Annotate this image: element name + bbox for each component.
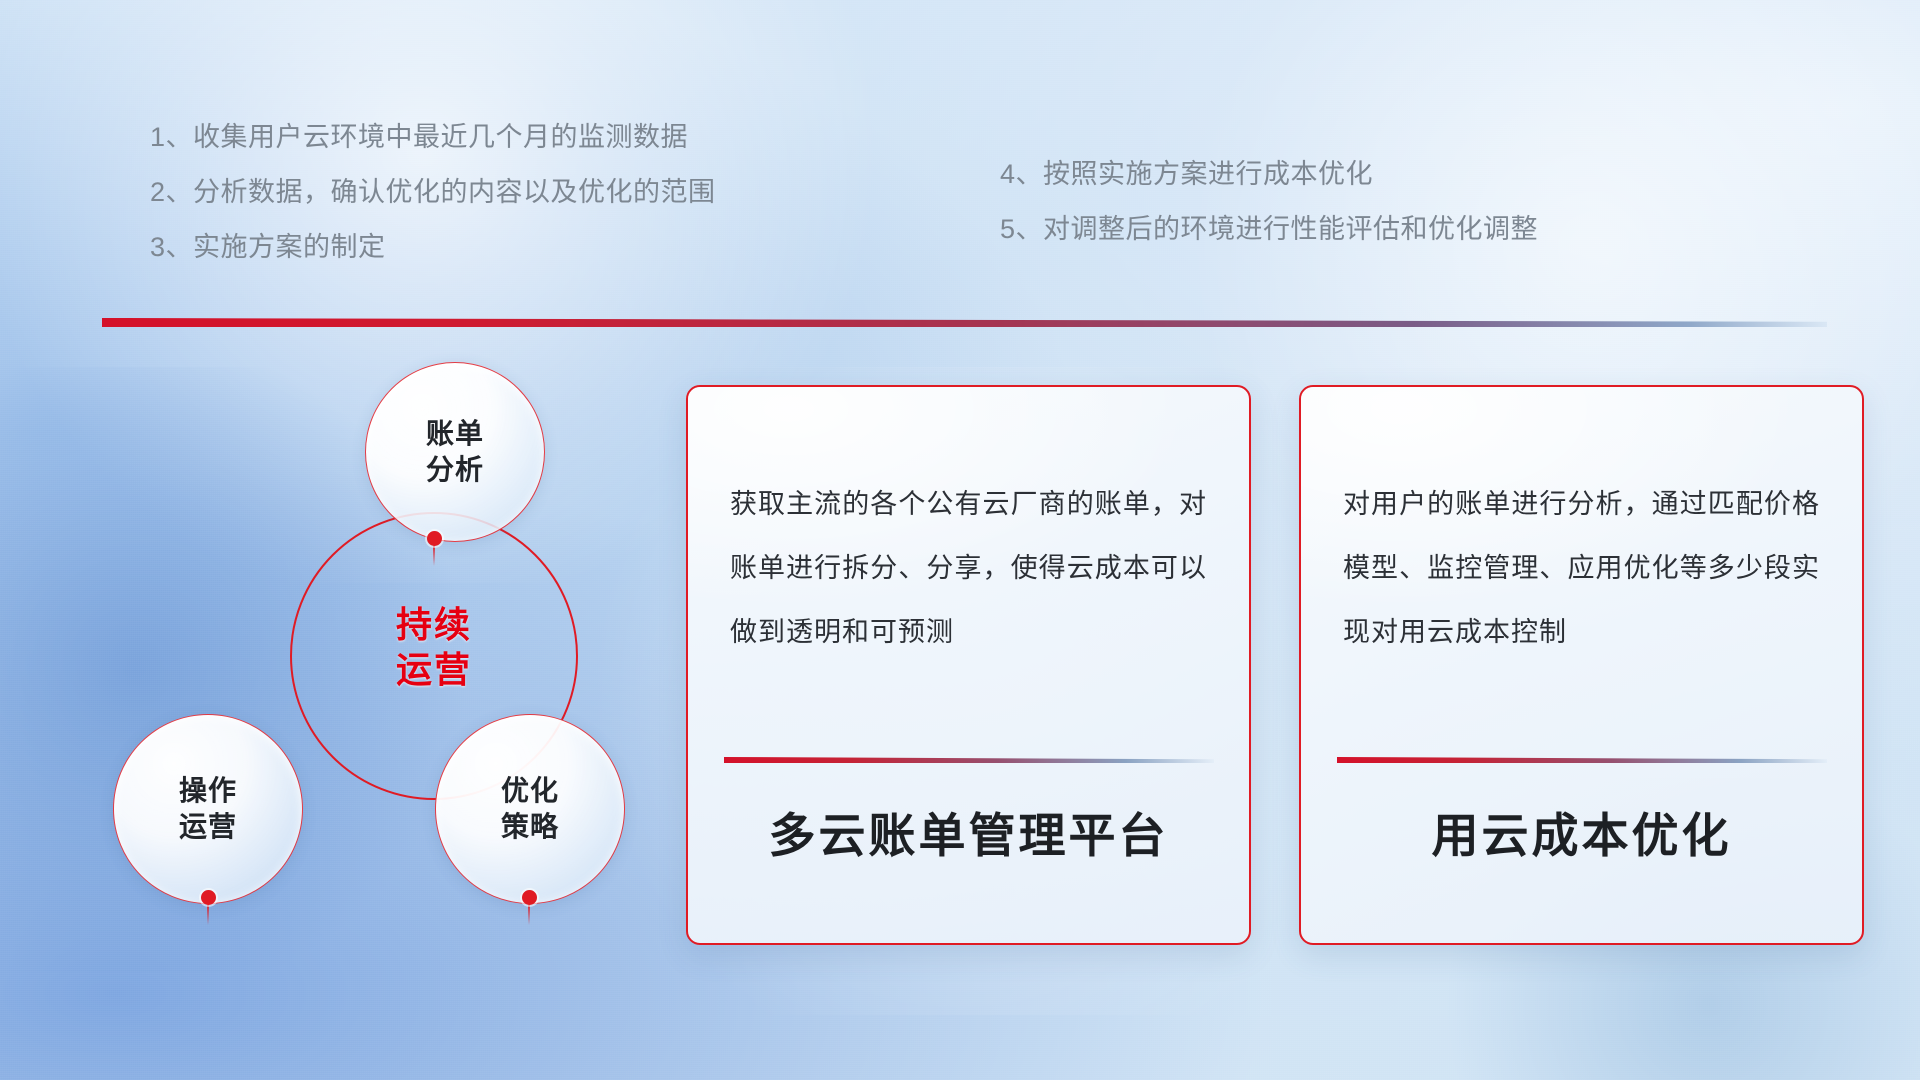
bubble-billing-analysis[interactable]: 账单 分析 <box>365 362 545 542</box>
card-multi-cloud-billing-platform[interactable]: 获取主流的各个公有云厂商的账单，对账单进行拆分、分享，使得云成本可以做到透明和可… <box>686 385 1251 945</box>
steps-right-column: 4、按照实施方案进行成本优化 5、对调整后的环境进行性能评估和优化调整 <box>1000 147 1538 257</box>
card-1-accent-rule <box>724 757 1214 763</box>
step-item-4: 4、按照实施方案进行成本优化 <box>1000 147 1538 202</box>
bubble-label-line-1: 操作 <box>179 773 237 809</box>
bubble-optimization-strategy-label: 优化 策略 <box>501 773 559 845</box>
bubble-label-line-2: 分析 <box>426 452 484 488</box>
card-2-accent-rule <box>1337 757 1827 763</box>
bubble-operation-management-label: 操作 运营 <box>179 773 237 845</box>
bubble-label-line-2: 运营 <box>179 809 237 845</box>
node-tail-bottom-left <box>207 903 209 925</box>
card-2-body-text: 对用户的账单进行分析，通过匹配价格模型、监控管理、应用优化等多少段实现对用云成本… <box>1301 387 1862 664</box>
card-1-body-text: 获取主流的各个公有云厂商的账单，对账单进行拆分、分享，使得云成本可以做到透明和可… <box>688 387 1249 664</box>
step-item-5: 5、对调整后的环境进行性能评估和优化调整 <box>1000 202 1538 257</box>
bubble-operation-management[interactable]: 操作 运营 <box>113 714 303 904</box>
bubble-billing-analysis-label: 账单 分析 <box>426 416 484 488</box>
bubble-label-line-1: 优化 <box>501 773 559 809</box>
center-label-line-2: 运营 <box>290 647 578 692</box>
bubble-optimization-strategy[interactable]: 优化 策略 <box>435 714 625 904</box>
node-tail-top <box>433 544 435 566</box>
process-steps: 1、收集用户云环境中最近几个月的监测数据 2、分析数据，确认优化的内容以及优化的… <box>0 0 1920 300</box>
node-dot-bottom-left <box>201 890 216 905</box>
steps-left-column: 1、收集用户云环境中最近几个月的监测数据 2、分析数据，确认优化的内容以及优化的… <box>150 110 716 275</box>
node-tail-bottom-right <box>528 903 530 925</box>
center-label-line-1: 持续 <box>290 602 578 647</box>
continuous-operation-diagram: 持续 运营 账单 分析 操作 运营 优化 策略 <box>95 350 655 960</box>
step-item-3: 3、实施方案的制定 <box>150 220 716 275</box>
card-2-title: 用云成本优化 <box>1301 797 1862 866</box>
step-item-1: 1、收集用户云环境中最近几个月的监测数据 <box>150 110 716 165</box>
step-item-2: 2、分析数据，确认优化的内容以及优化的范围 <box>150 165 716 220</box>
bubble-label-line-2: 策略 <box>501 809 559 845</box>
card-cloud-cost-optimization[interactable]: 对用户的账单进行分析，通过匹配价格模型、监控管理、应用优化等多少段实现对用云成本… <box>1299 385 1864 945</box>
section-divider <box>102 318 1827 327</box>
card-1-title: 多云账单管理平台 <box>688 797 1249 866</box>
divider-gradient-bar <box>102 318 1827 327</box>
bubble-label-line-1: 账单 <box>426 416 484 452</box>
node-dot-bottom-right <box>522 890 537 905</box>
diagram-center-label: 持续 运营 <box>290 602 578 693</box>
node-dot-top <box>427 531 442 546</box>
